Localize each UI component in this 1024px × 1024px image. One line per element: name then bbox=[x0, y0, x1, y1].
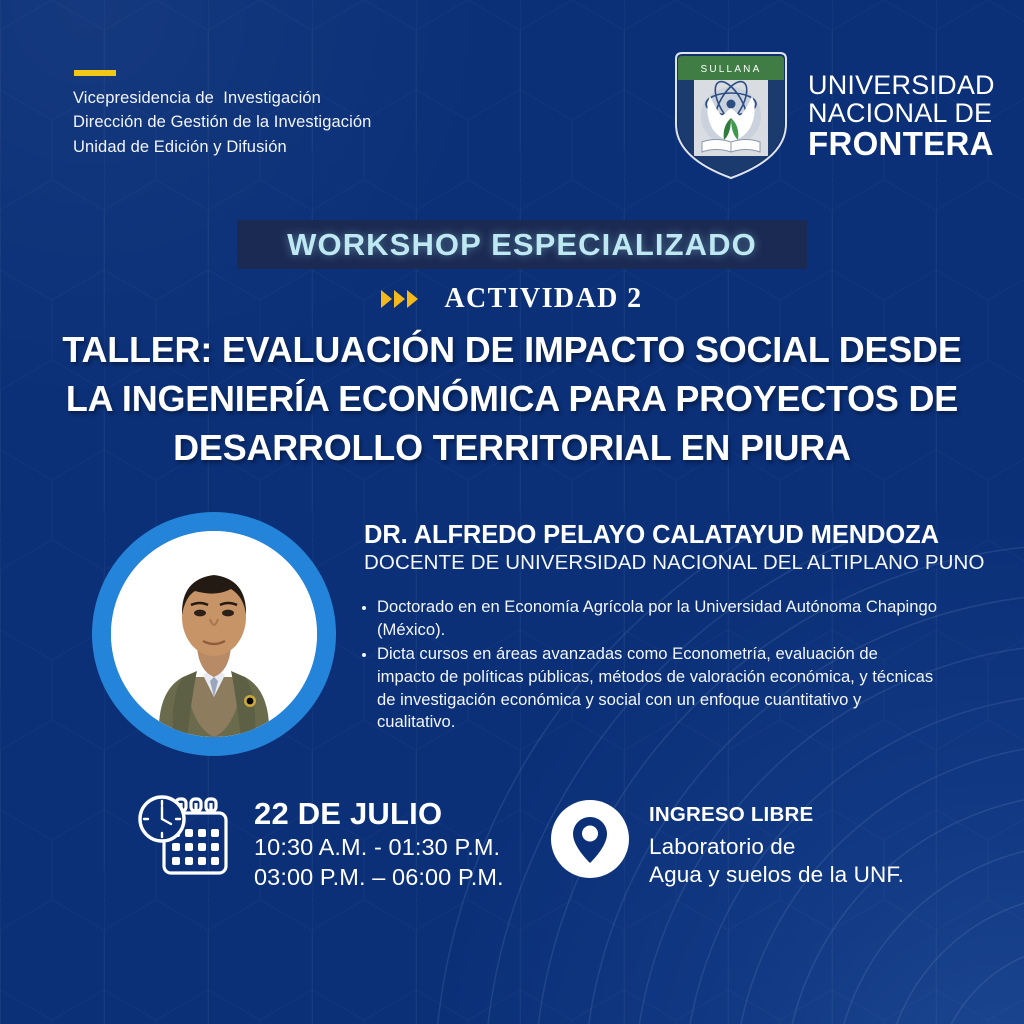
event-title: TALLER: EVALUACIÓN DE IMPACTO SOCIAL DES… bbox=[57, 326, 967, 473]
wordmark-line-2: NACIONAL DE bbox=[808, 99, 995, 127]
title-line-2: LA INGENIERÍA ECONÓMICA PARA PROYECTOS D… bbox=[57, 375, 967, 424]
calendar-clock-icon bbox=[136, 795, 232, 883]
map-pin-icon bbox=[551, 800, 629, 878]
event-date: 22 DE JULIO bbox=[254, 797, 504, 832]
workshop-band-label: WORKSHOP ESPECIALIZADO bbox=[287, 227, 757, 263]
venue-line-2: Agua y suelos de la UNF. bbox=[649, 861, 904, 889]
speaker-role: DOCENTE DE UNIVERSIDAD NACIONAL DEL ALTI… bbox=[364, 551, 985, 575]
speaker-bio-bullets: Doctorado en en Economía Agrícola por la… bbox=[360, 596, 940, 735]
bio-bullet-2: Dicta cursos en áreas avanzadas como Eco… bbox=[377, 643, 940, 735]
chevron-right-icon bbox=[381, 290, 418, 308]
event-poster: Vicepresidencia de Investigación Direcci… bbox=[0, 0, 1024, 1024]
org-line-3: Unidad de Edición y Difusión bbox=[73, 135, 371, 159]
bio-bullet-1: Doctorado en en Economía Agrícola por la… bbox=[377, 596, 940, 642]
location-info-block: INGRESO LIBRE Laboratorio de Agua y suel… bbox=[551, 800, 904, 889]
organization-lines: Vicepresidencia de Investigación Direcci… bbox=[73, 86, 371, 159]
wordmark-line-1: UNIVERSIDAD bbox=[808, 71, 995, 99]
title-line-1: TALLER: EVALUACIÓN DE IMPACTO SOCIAL DES… bbox=[57, 326, 967, 375]
shield-ring-label: UNIVERSIDAD NACIONAL DE FRONTERA bbox=[672, 52, 675, 54]
activity-label: ACTIVIDAD 2 bbox=[444, 283, 642, 315]
title-line-3: DESARROLLO TERRITORIAL EN PIURA bbox=[57, 424, 967, 473]
university-wordmark: UNIVERSIDAD NACIONAL DE FRONTERA bbox=[808, 71, 995, 161]
org-line-1: Vicepresidencia de Investigación bbox=[73, 86, 371, 110]
event-time-morning: 10:30 A.M. - 01:30 P.M. bbox=[254, 832, 504, 862]
avatar-photo-frame bbox=[111, 531, 317, 737]
location-text-group: INGRESO LIBRE Laboratorio de Agua y suel… bbox=[649, 800, 904, 889]
wordmark-line-3: FRONTERA bbox=[808, 127, 995, 161]
event-time-afternoon: 03:00 P.M. – 06:00 P.M. bbox=[254, 862, 504, 892]
date-text-group: 22 DE JULIO 10:30 A.M. - 01:30 P.M. 03:0… bbox=[254, 795, 504, 892]
shield-top-label: SULLANA bbox=[701, 64, 762, 75]
venue-line-1: Laboratorio de bbox=[649, 833, 904, 861]
speaker-name: DR. ALFREDO PELAYO CALATAYUD MENDOZA bbox=[364, 521, 939, 550]
org-line-2: Dirección de Gestión de la Investigación bbox=[73, 110, 371, 134]
speaker-portrait-image bbox=[111, 531, 317, 737]
admission-label: INGRESO LIBRE bbox=[649, 803, 904, 827]
workshop-band: WORKSHOP ESPECIALIZADO bbox=[237, 220, 807, 269]
shield-crest-icon: SULLANA UNIVERSIDAD NACIONAL DE FRONTERA bbox=[672, 52, 790, 180]
yellow-accent-rule bbox=[74, 70, 116, 76]
university-logo: SULLANA UNIVERSIDAD NACIONAL DE FRONTERA… bbox=[672, 52, 995, 180]
activity-row: ACTIVIDAD 2 bbox=[0, 283, 1024, 315]
date-info-block: 22 DE JULIO 10:30 A.M. - 01:30 P.M. 03:0… bbox=[136, 795, 504, 892]
speaker-avatar bbox=[92, 512, 336, 756]
